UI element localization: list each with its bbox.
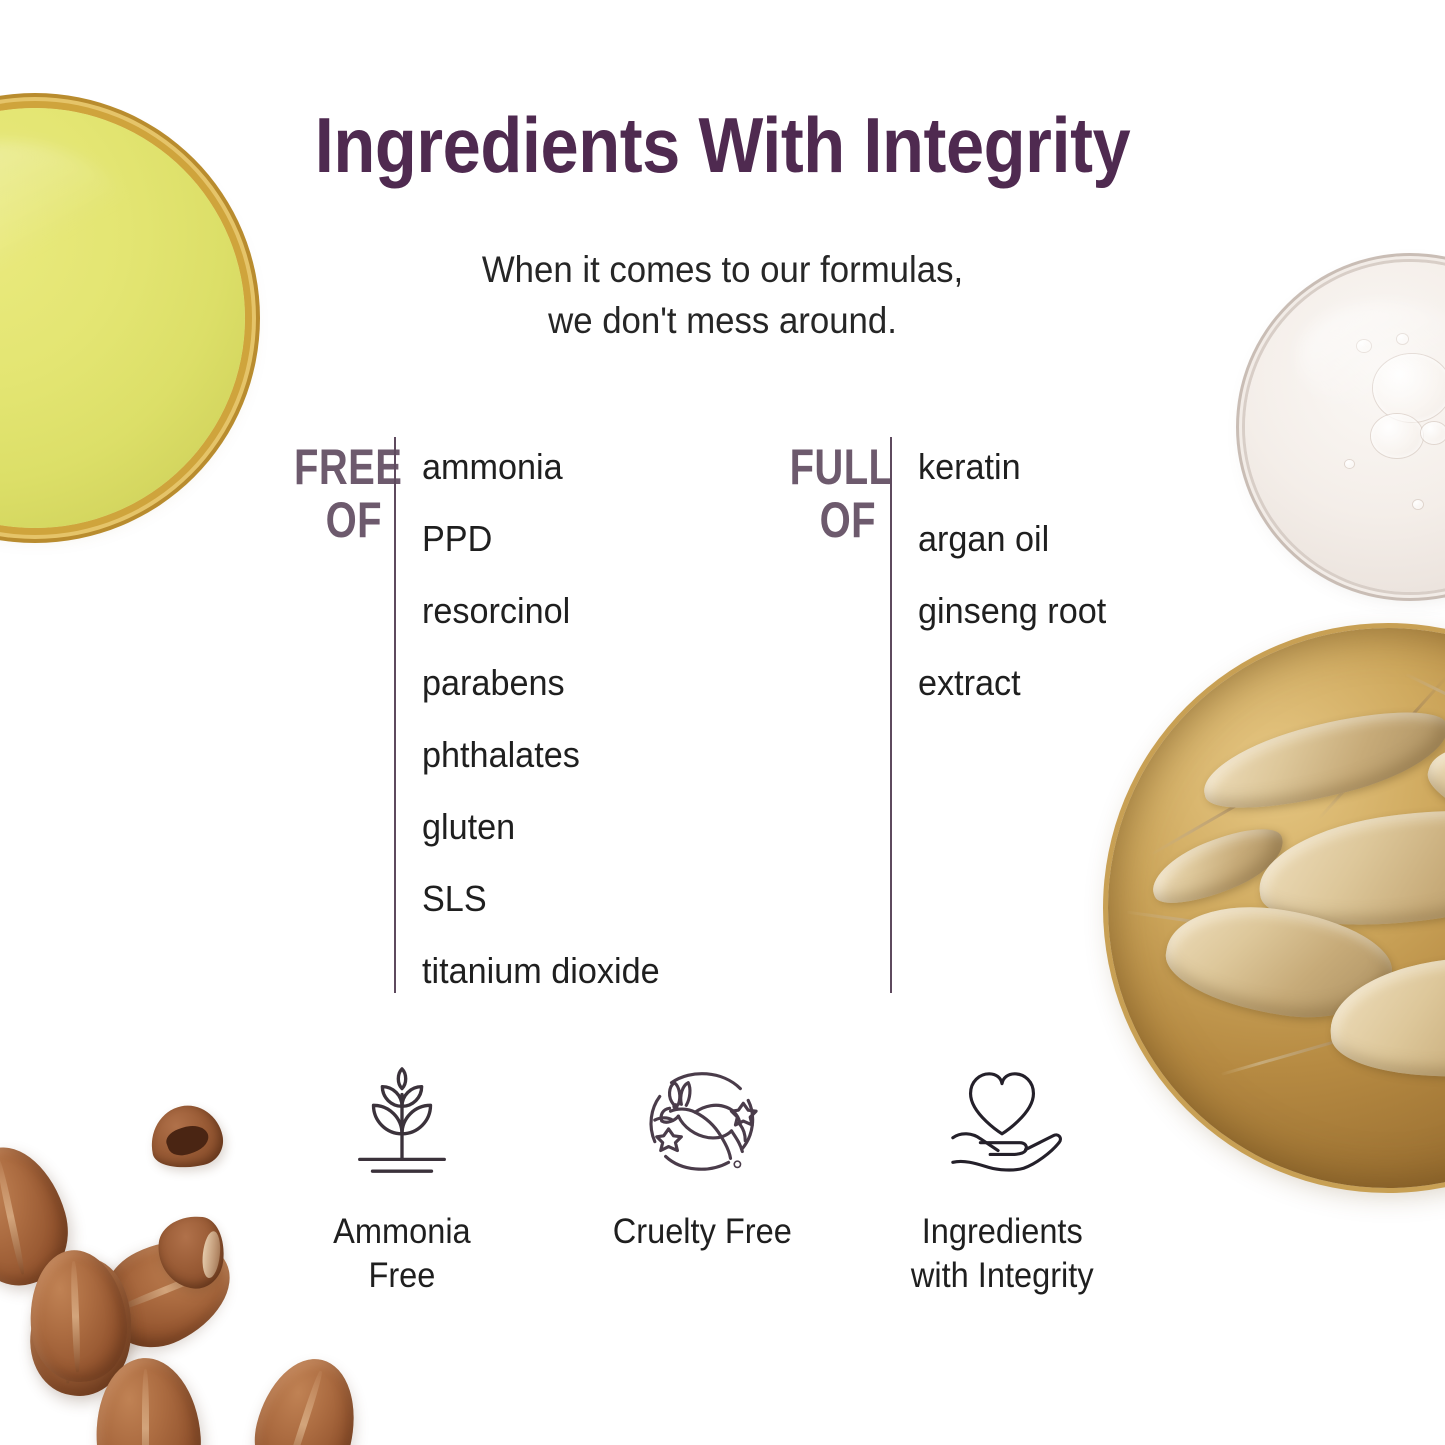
list-item: ammonia [422,431,755,503]
gel-bubble [1373,354,1445,422]
subtitle-line-2: we don't mess around. [43,295,1401,346]
badge-label-line-2: Free [333,1254,470,1298]
full-of-label: FULL OF [790,441,876,547]
badge-cruelty-free: Cruelty Free [552,1062,852,1362]
hand-holding-heart-icon [936,1062,1068,1184]
page-title: Ingredients With Integrity [87,106,1359,184]
certification-badges: Ammonia Free [252,1062,1212,1362]
list-item: gluten [422,791,755,863]
list-item: PPD [422,503,755,575]
full-of-list: keratin argan oil ginseng root extract [918,431,1213,719]
list-item: ginseng root extract [918,575,1203,719]
badge-label-line-1: Ingredients [911,1210,1094,1254]
list-item: phthalates [422,719,755,791]
full-of-divider [890,437,892,993]
list-item: titanium dioxide [422,935,755,1007]
badge-label-line-1: Cruelty Free [612,1210,791,1254]
badge-ammonia-free: Ammonia Free [252,1062,552,1362]
ingredient-columns: FREE OF ammonia PPD resorcinol parabens … [0,437,1445,997]
badge-label-line-1: Ammonia [333,1210,470,1254]
badge-label-line-2: with Integrity [911,1254,1094,1298]
full-of-label-line-1: FULL [790,441,876,494]
list-item: argan oil [918,503,1213,575]
argan-shell-fragment [144,1099,227,1175]
free-of-label-line-2: OF [294,494,382,547]
plant-sprout-icon [336,1062,468,1184]
badge-label: Ammonia Free [333,1210,470,1298]
list-item: parabens [422,647,755,719]
page-subtitle: When it comes to our formulas, we don't … [43,244,1401,346]
free-of-label-line-1: FREE [294,441,382,494]
list-item: SLS [422,863,755,935]
badge-label: Ingredients with Integrity [911,1210,1094,1298]
subtitle-line-1: When it comes to our formulas, [43,244,1401,295]
free-of-divider [394,437,396,993]
leaping-bunny-icon [636,1062,768,1184]
free-of-column: FREE OF ammonia PPD resorcinol parabens … [272,437,772,993]
badge-label: Cruelty Free [612,1210,791,1254]
free-of-label: FREE OF [294,441,382,547]
argan-nut [243,1348,369,1445]
infographic-canvas: Ingredients With Integrity When it comes… [0,0,1445,1445]
free-of-list: ammonia PPD resorcinol parabens phthalat… [422,431,755,1007]
list-item: keratin [918,431,1213,503]
full-of-label-line-2: OF [790,494,876,547]
list-item: resorcinol [422,575,755,647]
badge-ingredients-with-integrity: Ingredients with Integrity [852,1062,1152,1362]
full-of-column: FULL OF keratin argan oil ginseng root e… [768,437,1228,993]
